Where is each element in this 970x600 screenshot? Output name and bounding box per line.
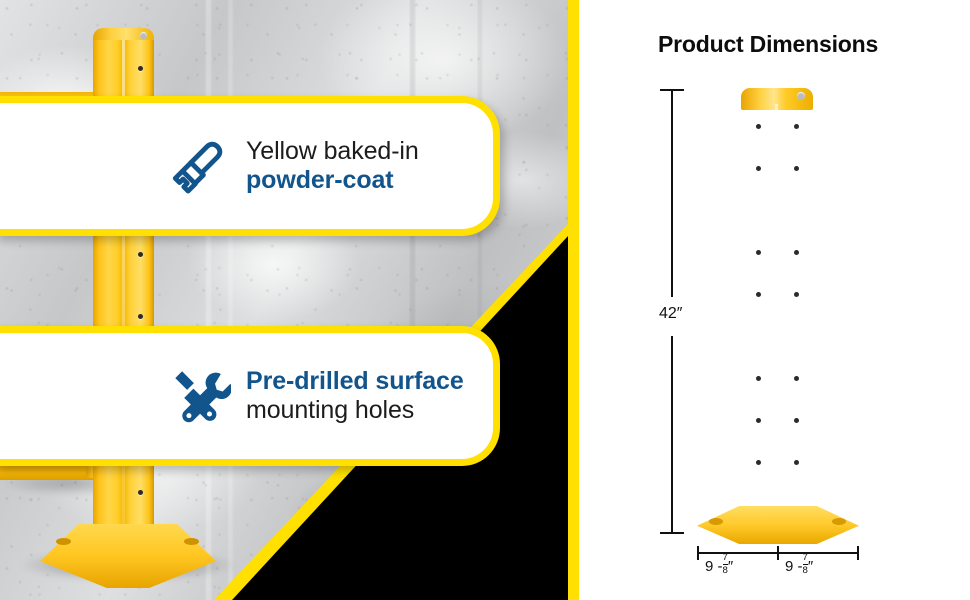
product-feature-graphic: Yellow baked-in powder-coat bbox=[0, 0, 970, 600]
dim-post-hole bbox=[794, 250, 799, 255]
width-label-suffix-right: ″ bbox=[808, 558, 813, 575]
width-label-suffix-left: ″ bbox=[728, 558, 733, 575]
callout-text-mounting-holes: Pre-drilled surface mounting holes bbox=[246, 367, 493, 425]
dim-post-hole bbox=[756, 250, 761, 255]
dim-post-hole bbox=[756, 376, 761, 381]
callout-line-1: Yellow baked-in bbox=[246, 137, 479, 166]
dim-post-hole bbox=[794, 418, 799, 423]
dim-post-hole bbox=[756, 460, 761, 465]
post-mounting-hole bbox=[138, 66, 143, 71]
post-mounting-hole bbox=[138, 252, 143, 257]
width-dimension-label-right: 9 -78″ bbox=[785, 553, 813, 575]
callout-line-2: mounting holes bbox=[246, 396, 479, 425]
dim-post-hole bbox=[794, 292, 799, 297]
post-cap-bolt bbox=[140, 32, 147, 39]
callout-card-mounting-holes: Pre-drilled surface mounting holes bbox=[0, 326, 500, 466]
dim-post-hole bbox=[756, 292, 761, 297]
callout-card-powder-coat: Yellow baked-in powder-coat bbox=[0, 96, 500, 236]
dim-post-hole bbox=[756, 418, 761, 423]
callout-text-powder-coat: Yellow baked-in powder-coat bbox=[246, 137, 493, 195]
panel-divider-stripe bbox=[568, 0, 579, 600]
dim-base-plate-bolt-hole bbox=[832, 518, 846, 525]
screwdriver-wrench-icon bbox=[154, 365, 246, 427]
dim-post-corner-seam bbox=[775, 104, 778, 508]
dim-post-hole bbox=[794, 166, 799, 171]
width-dimension-label-left: 9 -78″ bbox=[705, 553, 733, 575]
height-dimension-line-lower bbox=[671, 336, 673, 534]
product-photo-panel: Yellow baked-in powder-coat bbox=[0, 0, 568, 600]
base-plate-bolt-hole bbox=[56, 538, 71, 545]
dim-post-hole bbox=[756, 166, 761, 171]
dim-post-hole bbox=[756, 124, 761, 129]
width-label-whole-right: 9 - bbox=[785, 558, 803, 575]
height-dimension-label: 42″ bbox=[655, 303, 686, 325]
callout-line-2: powder-coat bbox=[246, 166, 479, 195]
width-label-whole-left: 9 - bbox=[705, 558, 723, 575]
height-dimension-bottom-cap bbox=[660, 532, 684, 534]
dim-post-base-plate bbox=[697, 506, 859, 544]
dim-post-hole bbox=[794, 124, 799, 129]
post-mounting-hole bbox=[138, 314, 143, 319]
base-plate-bolt-hole bbox=[184, 538, 199, 545]
post-mounting-hole bbox=[138, 490, 143, 495]
dim-post-hole bbox=[794, 376, 799, 381]
height-dimension-line-upper bbox=[671, 89, 673, 297]
callout-line-1: Pre-drilled surface bbox=[246, 367, 479, 396]
dim-post-cap-bolt bbox=[797, 92, 805, 100]
paintbrush-icon bbox=[154, 135, 246, 197]
page-title: Product Dimensions bbox=[658, 31, 878, 58]
dim-post-hole bbox=[794, 460, 799, 465]
product-dimensions-panel: Product Dimensions 42″ bbox=[579, 0, 970, 600]
dim-base-plate-bolt-hole bbox=[709, 518, 723, 525]
